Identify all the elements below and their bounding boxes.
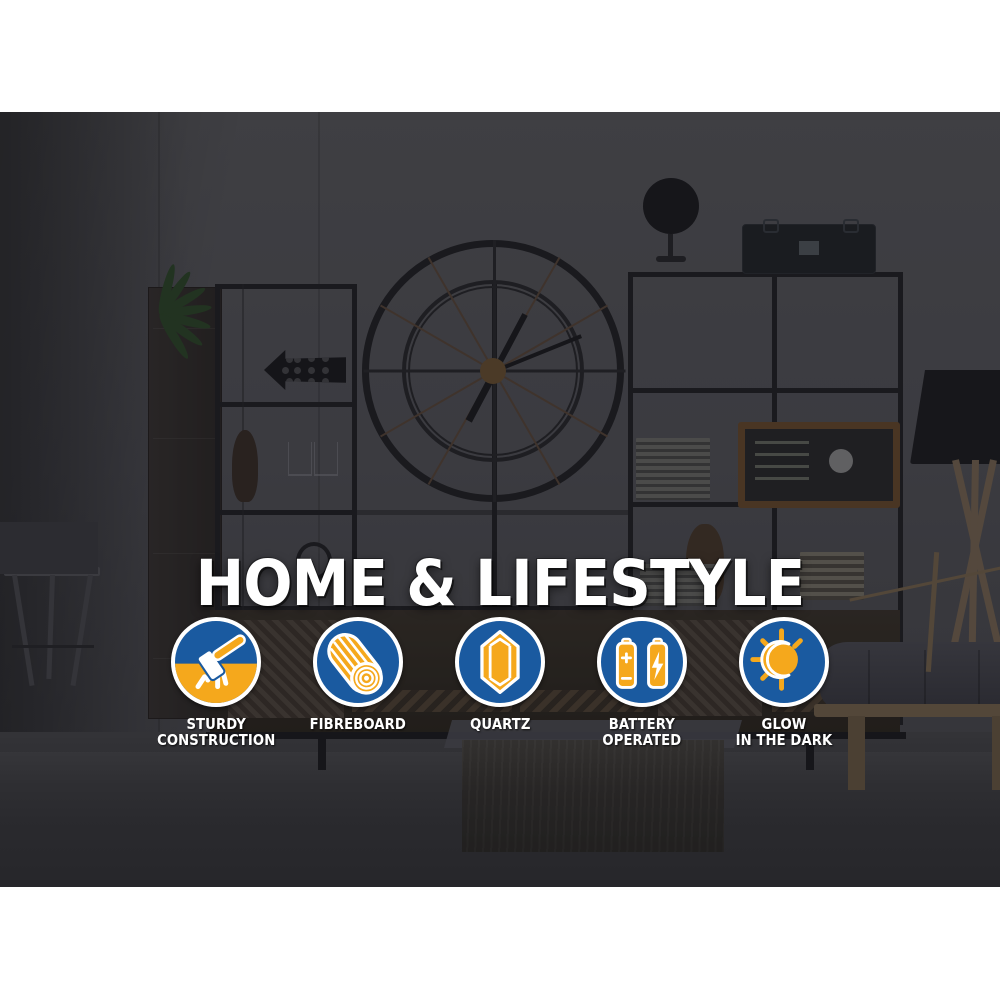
sun-moon-icon — [739, 617, 829, 707]
feature-badge-row: STURDY CONSTRUCTION — [150, 617, 850, 787]
lifestyle-photo: HOME & LIFESTYLE — [0, 112, 1000, 887]
feature-glow-in-the-dark[interactable]: GLOW IN THE DARK — [718, 617, 850, 748]
hammer-icon — [171, 617, 261, 707]
wood-log-icon — [313, 617, 403, 707]
feature-label: BATTERY OPERATED — [603, 716, 682, 748]
feature-quartz[interactable]: QUARTZ — [434, 617, 566, 732]
batteries-icon — [597, 617, 687, 707]
feature-sturdy-construction[interactable]: STURDY CONSTRUCTION — [150, 617, 282, 748]
gem-icon — [455, 617, 545, 707]
feature-label: FIBREBOARD — [310, 716, 406, 732]
feature-fibreboard[interactable]: FIBREBOARD — [292, 617, 424, 732]
product-banner: HOME & LIFESTYLE — [0, 0, 1000, 1000]
feature-label: QUARTZ — [470, 716, 530, 732]
feature-label: GLOW IN THE DARK — [736, 716, 833, 748]
page-title: HOME & LIFESTYLE — [40, 552, 960, 615]
feature-label: STURDY CONSTRUCTION — [157, 716, 275, 748]
feature-battery-operated[interactable]: BATTERY OPERATED — [576, 617, 708, 748]
